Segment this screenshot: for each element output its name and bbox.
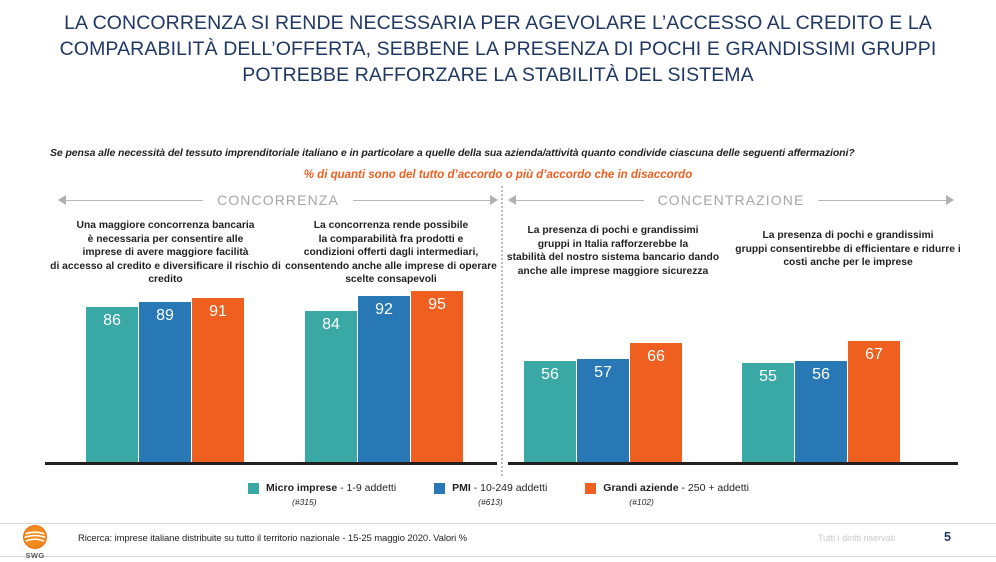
bar-group-3: 565766: [524, 282, 683, 462]
caption-line: la comparabilità fra prodotti e: [285, 233, 497, 247]
swg-logo-mark-icon: [22, 524, 48, 550]
bar-1-3: 91: [192, 298, 245, 462]
bar-3-1: 56: [524, 361, 577, 462]
caption-line: costi anche per le imprese: [722, 256, 974, 270]
bar-2-2: 92: [358, 296, 411, 462]
bar-group-4: 555667: [742, 282, 901, 462]
legend-swatch-icon: [248, 483, 259, 494]
caption-line: stabilità del nostro sistema bancario da…: [506, 251, 720, 265]
legend-label: Micro imprese - 1-9 addetti: [266, 482, 396, 494]
legend-item-1[interactable]: Micro imprese - 1-9 addetti(#315): [248, 482, 396, 507]
group-caption-4: La presenza di pochi e grandissimigruppi…: [722, 229, 974, 270]
axis-band-concentrazione: CONCENTRAZIONE: [508, 190, 954, 210]
bar-4-1: 55: [742, 363, 795, 462]
bar-3-2: 57: [577, 359, 630, 462]
footer-page-number: 5: [944, 530, 951, 544]
page-title: LA CONCORRENZA SI RENDE NECESSARIA PER A…: [40, 10, 956, 88]
bar-value-label: 67: [848, 346, 900, 364]
caption-line: La concorrenza rende possibile: [285, 219, 497, 233]
bar-value-label: 55: [742, 368, 794, 386]
survey-question: Se pensa alle necessità del tessuto impr…: [50, 147, 950, 159]
band-label-concorrenza: CONCORRENZA: [203, 192, 353, 208]
swg-logo: SWG: [10, 524, 60, 560]
legend-label: Grandi aziende - 250 + addetti: [603, 482, 749, 494]
percentage-note: % di quanti sono del tutto d’accordo o p…: [0, 169, 996, 181]
band-line: [818, 200, 946, 201]
group-caption-2: La concorrenza rende possibilela compara…: [285, 219, 497, 287]
legend-item-2[interactable]: PMI - 10-249 addetti(#613): [434, 482, 547, 507]
band-label-concentrazione: CONCENTRAZIONE: [644, 192, 819, 208]
footer-rights: Tutti i diritti riservati: [818, 533, 895, 543]
bar-value-label: 91: [192, 303, 244, 321]
footer-source-note: Ricerca: imprese italiane distribuite su…: [78, 533, 467, 544]
caption-line: gruppi consentirebbe di efficientare e r…: [722, 243, 974, 257]
bar-value-label: 57: [577, 364, 629, 382]
axis-band-concorrenza: CONCORRENZA: [58, 190, 498, 210]
arrow-left-icon: [58, 195, 66, 205]
caption-line: La presenza di pochi e grandissimi: [722, 229, 974, 243]
caption-line: Una maggiore concorrenza bancaria: [48, 219, 283, 233]
legend-base-count: (#613): [478, 497, 547, 507]
bar-value-label: 95: [411, 296, 463, 314]
legend-row: Micro imprese - 1-9 addetti: [248, 482, 396, 494]
bar-value-label: 86: [86, 312, 138, 330]
bar-value-label: 89: [139, 307, 191, 325]
axis-baseline-left: [45, 462, 497, 465]
section-divider: [501, 186, 503, 476]
bar-group-1: 868991: [86, 282, 245, 462]
chart-legend: Micro imprese - 1-9 addetti(#315)PMI - 1…: [248, 482, 808, 507]
bar-value-label: 66: [630, 348, 682, 366]
bar-value-label: 84: [305, 316, 357, 334]
bar-1-2: 89: [139, 302, 192, 462]
axis-baseline-right: [508, 462, 958, 465]
caption-line: imprese di avere maggiore facilità: [48, 246, 283, 260]
caption-line: è necessaria per consentire alle: [48, 233, 283, 247]
footer-divider-top: [0, 523, 996, 524]
band-line: [353, 200, 490, 201]
bar-value-label: 56: [795, 366, 847, 384]
legend-row: Grandi aziende - 250 + addetti: [585, 482, 749, 494]
caption-line: anche alle imprese maggiore sicurezza: [506, 265, 720, 279]
bar-value-label: 56: [524, 366, 576, 384]
group-caption-1: Una maggiore concorrenza bancariaè neces…: [48, 219, 283, 287]
legend-item-3[interactable]: Grandi aziende - 250 + addetti(#102): [585, 482, 749, 507]
band-line: [516, 200, 644, 201]
legend-base-count: (#102): [629, 497, 749, 507]
arrow-right-icon: [490, 195, 498, 205]
bar-value-label: 92: [358, 301, 410, 319]
caption-line: di accesso al credito e diversificare il…: [48, 260, 283, 274]
legend-label: PMI - 10-249 addetti: [452, 482, 547, 494]
slide-root: LA CONCORRENZA SI RENDE NECESSARIA PER A…: [0, 0, 996, 562]
legend-swatch-icon: [434, 483, 445, 494]
bar-4-3: 67: [848, 341, 901, 462]
caption-line: consentendo anche alle imprese di operar…: [285, 260, 497, 274]
arrow-right-icon: [946, 195, 954, 205]
bar-1-1: 86: [86, 307, 139, 462]
caption-line: condizioni offerti dagli intermediari,: [285, 246, 497, 260]
swg-logo-text: SWG: [10, 551, 60, 560]
legend-row: PMI - 10-249 addetti: [434, 482, 547, 494]
band-line: [66, 200, 203, 201]
arrow-left-icon: [508, 195, 516, 205]
group-caption-3: La presenza di pochi e grandissimigruppi…: [506, 224, 720, 278]
caption-line: La presenza di pochi e grandissimi: [506, 224, 720, 238]
bar-4-2: 56: [795, 361, 848, 462]
caption-line: gruppi in Italia rafforzerebbe la: [506, 238, 720, 252]
footer-divider-bottom: [0, 556, 996, 557]
bar-2-1: 84: [305, 311, 358, 462]
legend-base-count: (#315): [292, 497, 396, 507]
bar-3-3: 66: [630, 343, 683, 462]
bar-2-3: 95: [411, 291, 464, 462]
bar-group-2: 849295: [305, 282, 464, 462]
legend-swatch-icon: [585, 483, 596, 494]
